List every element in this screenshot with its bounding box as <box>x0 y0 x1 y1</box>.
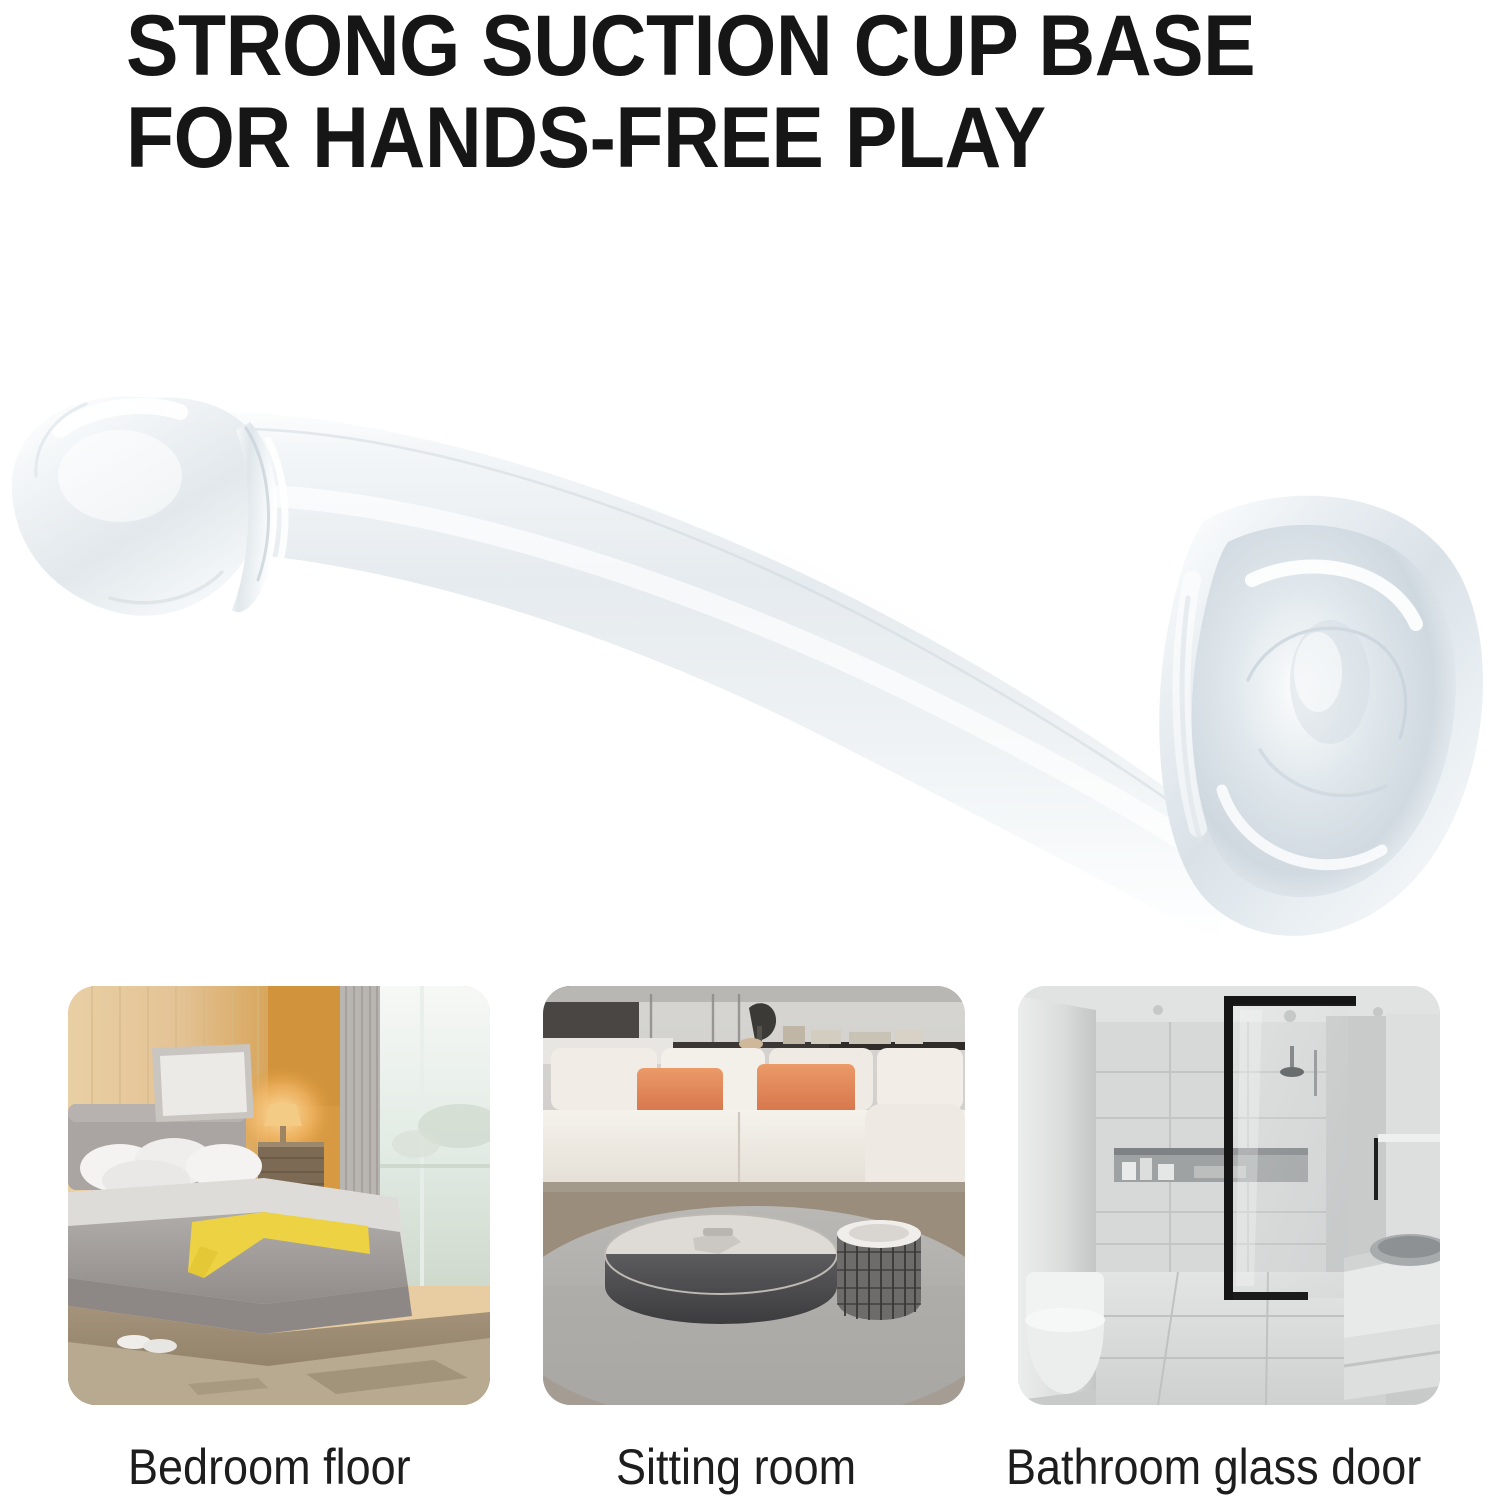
thumbnail-bedroom-floor[interactable] <box>68 986 490 1405</box>
headline-line-1: STRONG SUCTION CUP BASE <box>126 0 1316 92</box>
caption-row: Bedroom floor Sitting room Bathroom glas… <box>0 1440 1500 1500</box>
headline-line-2: FOR HANDS-FREE PLAY <box>126 92 1316 184</box>
caption-sitting-room: Sitting room <box>616 1440 856 1494</box>
thumbnail-sitting-room[interactable] <box>543 986 965 1405</box>
usage-thumbnail-row <box>0 986 1500 1406</box>
caption-bedroom-floor: Bedroom floor <box>128 1440 411 1494</box>
product-hero-image <box>0 280 1500 980</box>
caption-bathroom-glass-door: Bathroom glass door <box>1006 1440 1421 1494</box>
thumbnail-bathroom-glass-door[interactable] <box>1018 986 1440 1405</box>
headline-block: STRONG SUCTION CUP BASE FOR HANDS-FREE P… <box>126 0 1426 184</box>
